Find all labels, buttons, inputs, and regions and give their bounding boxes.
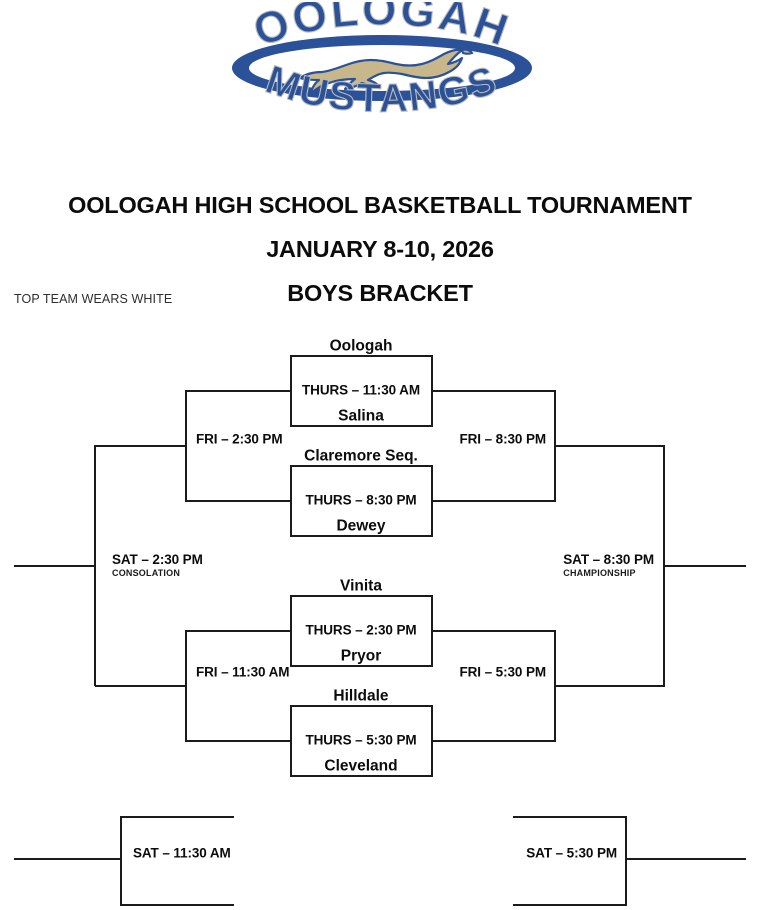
game-time: FRI – 8:30 PM	[460, 433, 546, 448]
sf-loser-2-out-line	[95, 685, 186, 687]
game-time: SAT – 11:30 AM	[133, 847, 231, 862]
sf-loser-2-top-line	[185, 630, 291, 632]
consolation-label: CONSOLATION	[112, 568, 203, 578]
placement-1-bottom-line	[120, 904, 234, 906]
placement-2-bottom-line	[513, 904, 627, 906]
game-time: FRI – 2:30 PM	[196, 433, 282, 448]
placement-1-top-line	[120, 816, 234, 818]
sf-winner-2-bottom-line	[432, 740, 556, 742]
sf-winner-2-out-line	[555, 685, 665, 687]
team-name: Salina	[338, 409, 384, 426]
placement-1-in-line	[14, 858, 121, 860]
game-time: THURS – 5:30 PM	[305, 734, 416, 749]
sf-loser-1-bottom-line	[185, 500, 291, 502]
placement-2-top-line	[513, 816, 627, 818]
placement-2-spine	[625, 816, 627, 906]
game-time: FRI – 5:30 PM	[460, 666, 546, 681]
sf-loser-1-top-line	[185, 390, 291, 392]
consolation-out-line	[14, 565, 95, 567]
sf-winner-1-bottom-line	[432, 500, 556, 502]
sf-winner-1-top-line	[432, 390, 556, 392]
championship-game: SAT – 8:30 PM CHAMPIONSHIP	[563, 552, 654, 578]
team-name: Oologah	[330, 339, 393, 356]
tournament-bracket: Oologah Salina THURS – 11:30 AM Claremor…	[0, 0, 760, 910]
sf-winner-2-top-line	[432, 630, 556, 632]
game-time: THURS – 8:30 PM	[305, 494, 416, 509]
team-name: Vinita	[340, 579, 382, 596]
consolation-game: SAT – 2:30 PM CONSOLATION	[112, 552, 203, 578]
championship-out-line	[664, 565, 746, 567]
placement-1-spine	[120, 816, 122, 906]
team-name: Dewey	[336, 519, 385, 536]
sf-winner-1-out-line	[555, 445, 665, 447]
sf-loser-1-out-line	[95, 445, 186, 447]
game-time: SAT – 5:30 PM	[526, 847, 617, 862]
team-name: Hilldale	[333, 689, 388, 706]
game-time: SAT – 2:30 PM	[112, 552, 203, 567]
team-name: Pryor	[341, 649, 382, 666]
team-name: Cleveland	[324, 759, 397, 776]
placement-2-out-line	[626, 858, 746, 860]
game-time: THURS – 11:30 AM	[302, 384, 420, 399]
game-time: FRI – 11:30 AM	[196, 666, 289, 681]
sf-loser-2-bottom-line	[185, 740, 291, 742]
game-time: THURS – 2:30 PM	[305, 624, 416, 639]
team-name: Claremore Seq.	[304, 449, 418, 466]
championship-label: CHAMPIONSHIP	[563, 568, 654, 578]
game-time: SAT – 8:30 PM	[563, 552, 654, 567]
